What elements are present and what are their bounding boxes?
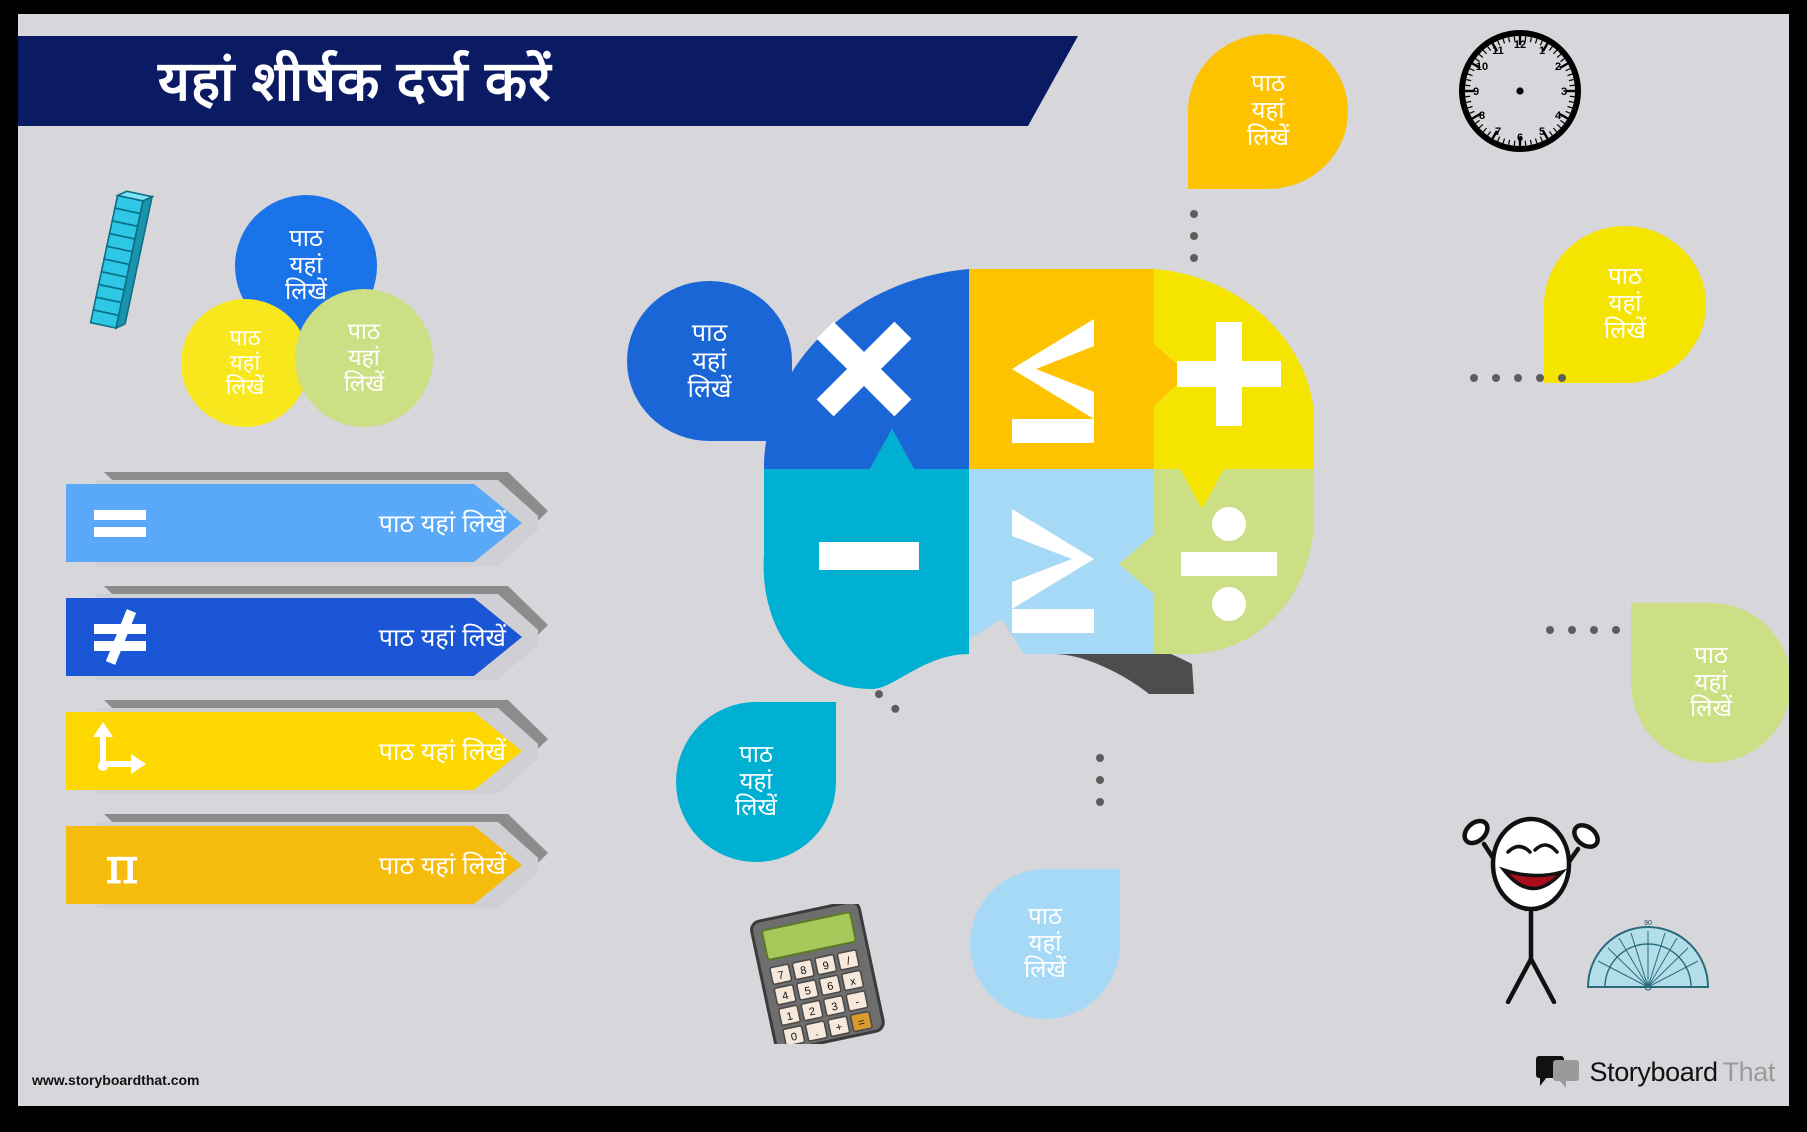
connector-bottom-lightblue bbox=[1096, 754, 1104, 806]
row-not-equals[interactable]: पाठ यहां लिखें bbox=[66, 598, 536, 676]
row-label: पाठ यहां लिखें bbox=[379, 506, 506, 540]
logo-secondary-text: That bbox=[1723, 1057, 1775, 1088]
bubble-text: पाठ यहां लिखें bbox=[226, 326, 265, 400]
bubble-brain-right-green[interactable]: पाठ यहां लिखें bbox=[1631, 603, 1789, 763]
logo-primary-text: Storyboard bbox=[1589, 1057, 1717, 1088]
poster-canvas: यहां शीर्षक दर्ज करें bbox=[18, 14, 1789, 1106]
clock-number: 5 bbox=[1539, 126, 1545, 138]
bubble-text: पाठ यहां लिखें bbox=[285, 226, 327, 307]
svg-text:π: π bbox=[106, 837, 139, 895]
clock-number: 8 bbox=[1479, 110, 1485, 122]
bubble-brain-bottom-cyan[interactable]: पाठ यहां लिखें bbox=[676, 702, 836, 862]
connector-right-yellow bbox=[1470, 374, 1566, 382]
bubble-left-green[interactable]: पाठ यहां लिखें bbox=[295, 289, 433, 427]
bubble-text: पाठ यहां लिखें bbox=[735, 742, 777, 823]
bubble-text: पाठ यहां लिखें bbox=[1247, 71, 1289, 152]
clock-number: 2 bbox=[1555, 61, 1561, 73]
bubble-text: पाठ यहां लिखें bbox=[344, 319, 384, 396]
title-banner[interactable]: यहां शीर्षक दर्ज करें bbox=[18, 36, 1078, 126]
clock-number: 7 bbox=[1495, 126, 1501, 138]
clock-number: 3 bbox=[1561, 86, 1567, 98]
row-axes[interactable]: पाठ यहां लिखें bbox=[66, 712, 536, 790]
calculator-icon: 789/ 456x 123- 0.+= bbox=[746, 904, 891, 1044]
footer-url[interactable]: www.storyboardthat.com bbox=[32, 1072, 200, 1088]
bubble-left-yellow[interactable]: पाठ यहां लिखें bbox=[181, 299, 309, 427]
clock-number: 12 bbox=[1514, 39, 1526, 51]
ruler-icon bbox=[78, 189, 158, 334]
row-equals[interactable]: पाठ यहां लिखें bbox=[66, 484, 536, 562]
pi-icon: π bbox=[88, 835, 158, 895]
clock-number: 6 bbox=[1517, 132, 1523, 144]
happy-stick-figure bbox=[1438, 774, 1628, 1004]
clock-number: 4 bbox=[1555, 110, 1562, 122]
bubble-text: पाठ यहां लिखें bbox=[1690, 643, 1732, 724]
coordinate-axes-icon bbox=[88, 721, 158, 781]
bubble-brain-bottom-lightblue[interactable]: पाठ यहां लिखें bbox=[970, 869, 1120, 1019]
bubble-text: पाठ यहां लिखें bbox=[1604, 264, 1646, 345]
speech-bubbles-icon bbox=[1536, 1056, 1580, 1088]
clock-number: 1 bbox=[1539, 45, 1545, 57]
connector-right-green bbox=[1546, 626, 1620, 634]
bubble-brain-right-yellow[interactable]: पाठ यहां लिखें bbox=[1544, 226, 1706, 383]
equals-icon bbox=[88, 493, 158, 553]
page-title: यहां शीर्षक दर्ज करें bbox=[158, 54, 552, 109]
row-label: पाठ यहां लिखें bbox=[379, 734, 506, 768]
clock-number: 9 bbox=[1473, 86, 1479, 98]
clock-number: 11 bbox=[1492, 45, 1504, 57]
storyboardthat-logo[interactable]: Storyboard That bbox=[1536, 1056, 1775, 1088]
clock-number: 10 bbox=[1476, 61, 1488, 73]
math-brain-diagram bbox=[724, 224, 1344, 704]
row-label: पाठ यहां लिखें bbox=[379, 620, 506, 654]
symbol-minus bbox=[819, 542, 919, 570]
bubble-brain-top[interactable]: पाठ यहां लिखें bbox=[1188, 34, 1348, 189]
bubble-text: पाठ यहां लिखें bbox=[1024, 904, 1066, 985]
protractor-label: 90 bbox=[1644, 920, 1652, 927]
row-pi[interactable]: π पाठ यहां लिखें bbox=[66, 826, 536, 904]
not-equals-icon bbox=[88, 607, 158, 667]
poster-root: यहां शीर्षक दर्ज करें bbox=[0, 0, 1807, 1132]
clock-icon: 12 1 2 3 4 5 6 7 8 9 10 11 bbox=[1456, 24, 1584, 159]
row-label: पाठ यहां लिखें bbox=[379, 848, 506, 882]
